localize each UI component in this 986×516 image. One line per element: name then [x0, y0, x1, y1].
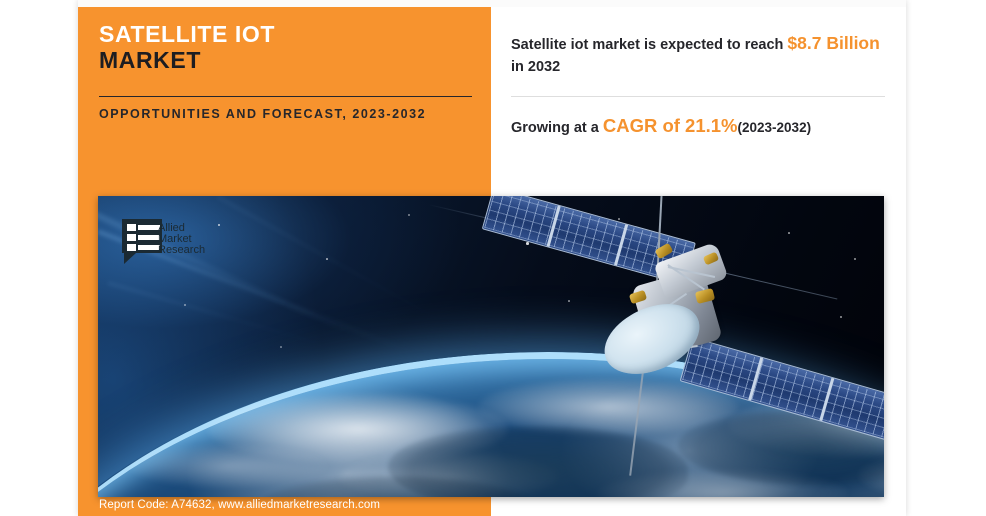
satellite-icon [490, 224, 884, 454]
report-code-caption: Report Code: A74632, www.alliedmarketres… [99, 499, 484, 511]
star-icon [280, 346, 282, 348]
svg-text:Research: Research [158, 244, 205, 256]
title-divider [99, 96, 472, 97]
market-value-statement: Satellite iot market is expected to reac… [511, 33, 889, 78]
star-icon [326, 258, 328, 260]
cloud [128, 444, 328, 488]
card-top-strip [78, 0, 906, 7]
market-value-prefix: Satellite iot market is expected to reac… [511, 37, 787, 53]
cagr-prefix: Growing at a [511, 120, 603, 136]
solar-cells [682, 339, 884, 438]
page-title-line1: SATELLITE IOT [99, 22, 474, 47]
report-infographic-card: SATELLITE IOT MARKET OPPORTUNITIES AND F… [78, 0, 906, 516]
market-value-suffix: in 2032 [511, 59, 560, 75]
report-subtitle: OPPORTUNITIES AND FORECAST, 2023-2032 [99, 106, 469, 123]
stats-divider [511, 96, 885, 97]
market-value-amount: $8.7 Billion [787, 33, 879, 53]
star-icon [408, 214, 410, 216]
cagr-period: (2023-2032) [738, 120, 812, 135]
report-heading: SATELLITE IOT MARKET [99, 22, 474, 73]
cagr-value: CAGR of 21.1% [603, 115, 738, 136]
allied-market-research-logo: Allied Market Research [116, 216, 238, 268]
star-icon [618, 218, 620, 220]
star-icon [184, 304, 186, 306]
page-title-line2: MARKET [99, 47, 474, 73]
solar-panel-right [680, 337, 884, 441]
cagr-statement: Growing at a CAGR of 21.1%(2023-2032) [511, 115, 891, 137]
satellite-hero-image: Allied Market Research [98, 196, 884, 497]
